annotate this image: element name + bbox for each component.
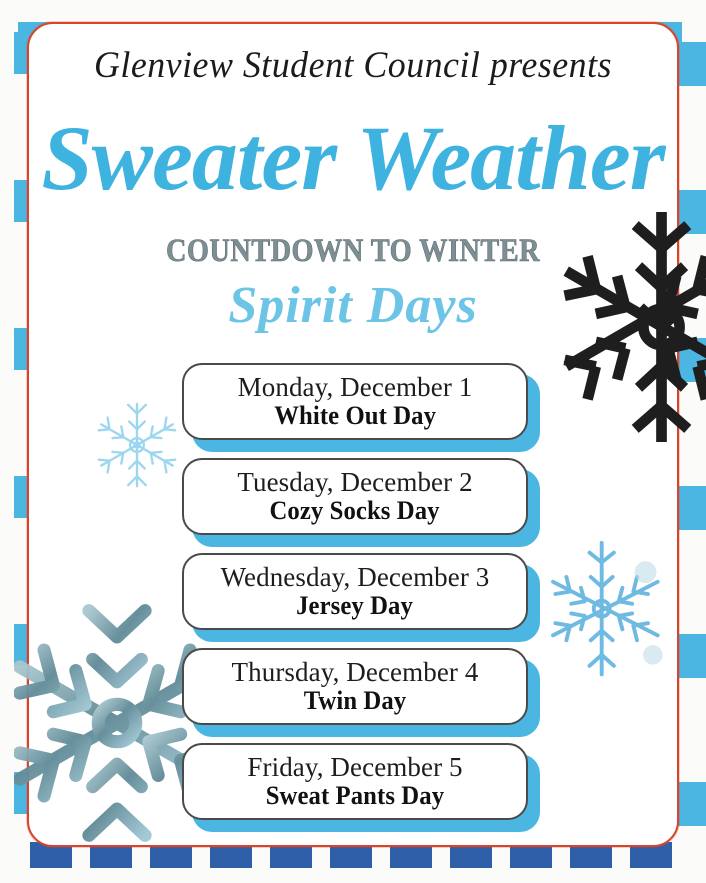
- spirit-day-theme: Cozy Socks Day: [270, 496, 440, 525]
- spirit-day-card: Wednesday, December 3Jersey Day: [182, 553, 528, 630]
- spirit-day-row: Friday, December 5Sweat Pants Day: [182, 743, 530, 835]
- presents-line: Glenview Student Council presents: [11, 44, 696, 87]
- poster-title: Sweater Weather: [0, 112, 706, 204]
- spirit-day-row: Monday, December 1White Out Day: [182, 363, 530, 455]
- spirit-day-row: Wednesday, December 3Jersey Day: [182, 553, 530, 645]
- spirit-day-date: Friday, December 5: [247, 753, 462, 782]
- spirit-day-date: Thursday, December 4: [232, 658, 479, 687]
- spirit-days-list: Monday, December 1White Out DayTuesday, …: [182, 363, 530, 838]
- spirit-day-date: Tuesday, December 2: [237, 468, 472, 497]
- spirit-day-theme: Twin Day: [304, 686, 407, 715]
- countdown-subtitle: COUNTDOWN TO WINTER: [49, 233, 656, 270]
- spirit-day-theme: Jersey Day: [297, 591, 414, 620]
- spirit-day-card: Friday, December 5Sweat Pants Day: [182, 743, 528, 820]
- spirit-day-date: Monday, December 1: [238, 373, 473, 402]
- snowflake-small-watercolor-icon: [548, 538, 670, 678]
- spirit-day-row: Tuesday, December 2Cozy Socks Day: [182, 458, 530, 550]
- spirit-day-card: Monday, December 1White Out Day: [182, 363, 528, 440]
- spirit-day-theme: Sweat Pants Day: [266, 781, 444, 810]
- spirit-day-row: Thursday, December 4Twin Day: [182, 648, 530, 740]
- spirit-day-card: Tuesday, December 2Cozy Socks Day: [182, 458, 528, 535]
- poster-content: Glenview Student Council presents Sweate…: [0, 0, 706, 883]
- spirit-days-heading: Spirit Days: [0, 276, 706, 335]
- winter-spirit-days-poster: Glenview Student Council presents Sweate…: [0, 0, 706, 883]
- spirit-day-date: Wednesday, December 3: [221, 563, 490, 592]
- spirit-day-theme: White Out Day: [274, 401, 436, 430]
- snowflake-small-outline-icon: [88, 392, 186, 498]
- spirit-day-card: Thursday, December 4Twin Day: [182, 648, 528, 725]
